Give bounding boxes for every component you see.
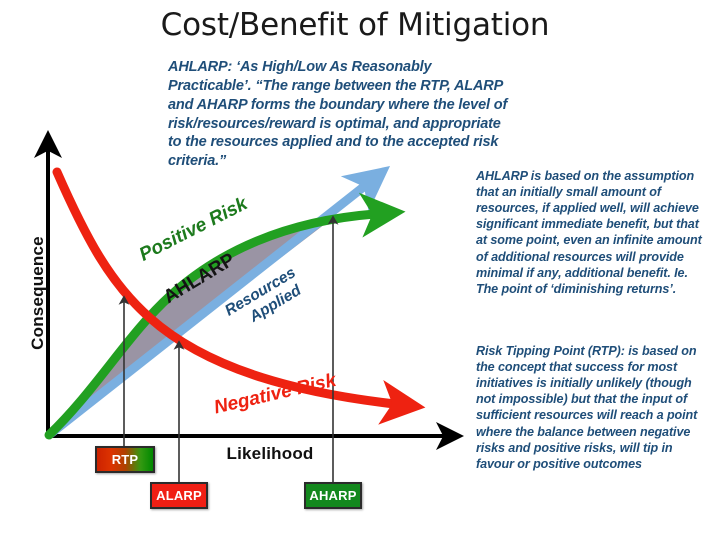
side-note-rtp: Risk Tipping Point (RTP): is based on th…: [476, 343, 706, 472]
y-axis-label: Consequence: [28, 228, 48, 358]
marker-box-aharp[interactable]: AHARP: [304, 482, 362, 509]
risk-chart: Consequence Likelihood Positive Risk Neg…: [0, 0, 470, 540]
marker-box-rtp[interactable]: RTP: [95, 446, 155, 473]
x-axis-label: Likelihood: [205, 444, 335, 464]
slide-canvas: Cost/Benefit of Mitigation AHLARP: ‘As H…: [0, 0, 720, 540]
side-note-ahlarp: AHLARP is based on the assumption that a…: [476, 168, 706, 297]
marker-box-alarp[interactable]: ALARP: [150, 482, 208, 509]
